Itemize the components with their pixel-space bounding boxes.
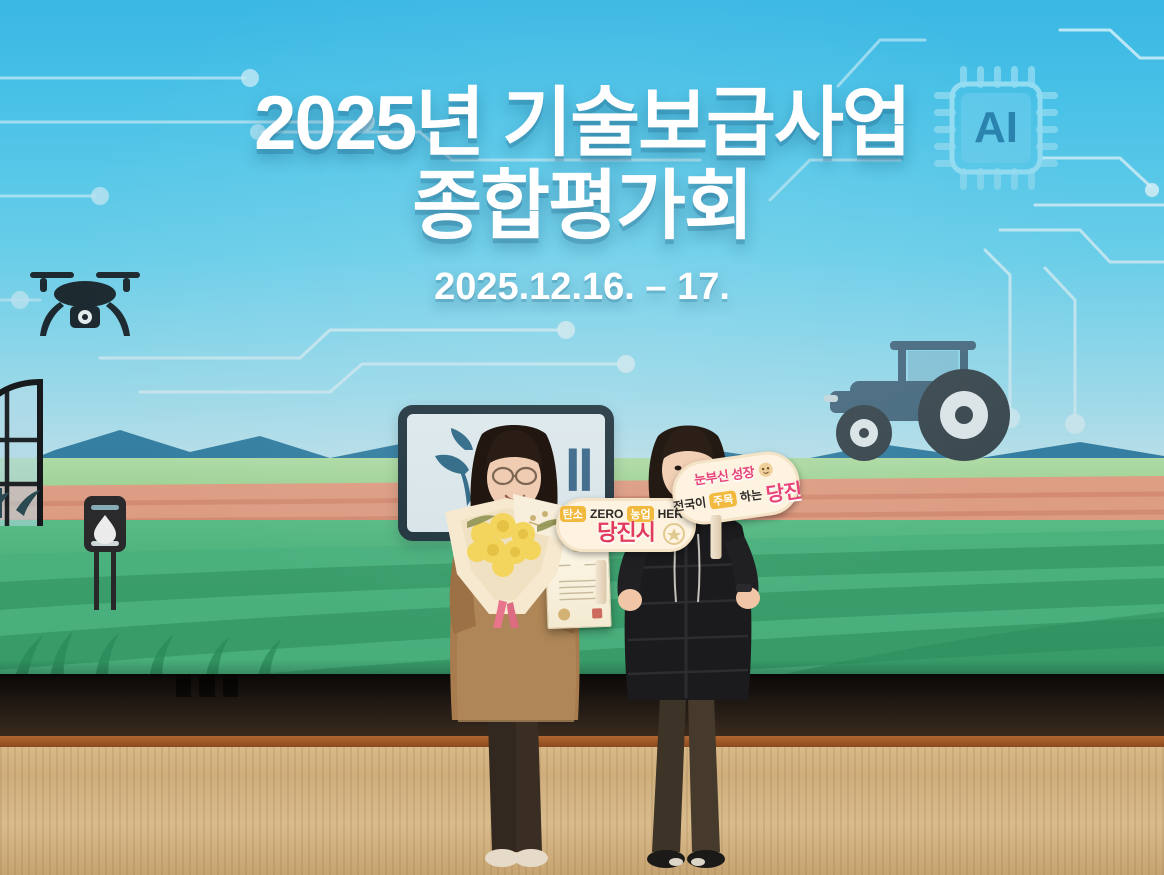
placard-word-carbon: 탄소 [560,506,586,522]
placard-city-dangjin-si: 당진시 [597,522,655,544]
placard-text-nationwide: 전국이 [672,493,707,514]
photo-scene: AI [0,0,1164,875]
placard-text-attention: 주목 [709,490,737,509]
event-title-line-1: 2025년 기술보급사업 [0,86,1164,161]
stage-base-feet [176,675,238,697]
placard-word-zero: ZERO [590,507,623,521]
placard-handle-left [595,560,606,604]
placard-text-doing: 하는 [739,486,763,506]
tractor-icon [812,335,1038,467]
event-title-line-2: 종합평가회 [0,169,1164,244]
placard-mascot-icon [757,460,775,478]
soil-moisture-sensor-icon [82,494,128,612]
placard-dangjin-growth-body: 눈부신 성장 전국이 주목 하는 당진 [668,447,804,528]
event-title-block: 2025년 기술보급사업 종합평가회 2025.12.16. – 17. [0,86,1164,309]
placard-dangjin-growth[interactable]: 눈부신 성장 전국이 주목 하는 당진 [672,456,800,528]
event-date-range: 2025.12.16. – 17. [0,266,1164,309]
placard-city-dangjin: 당진 [764,474,804,508]
placard-handle-right [710,515,721,559]
